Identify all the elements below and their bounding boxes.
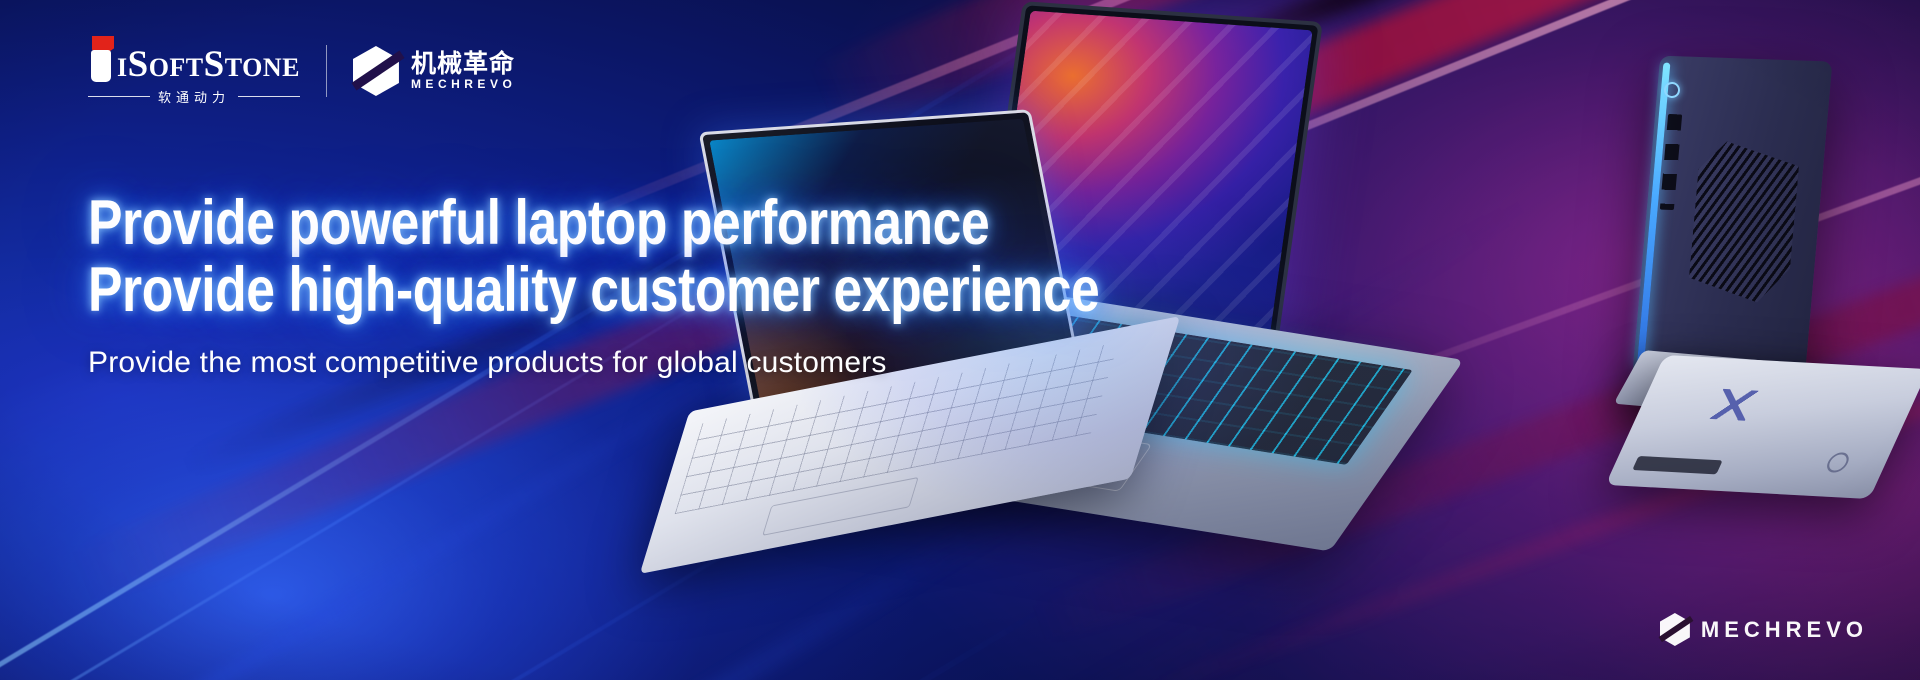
logo-divider [326, 45, 327, 97]
headline-line-2: Provide high-quality customer experience [88, 257, 1099, 324]
headline-block: Provide powerful laptop performance Prov… [88, 190, 1321, 380]
isoftstone-logo[interactable]: iSoftStone 软通动力 [88, 36, 300, 106]
logo-bar: iSoftStone 软通动力 机械革命 MECHREVO [88, 36, 516, 106]
isoftstone-chinese-name: 软通动力 [158, 87, 230, 106]
isoftstone-i-mark-icon [88, 36, 114, 82]
sub-headline: Provide the most competitive products fo… [88, 346, 1321, 380]
isoftstone-wordmark-row: iSoftStone [88, 36, 300, 82]
rule-left [88, 96, 150, 97]
mechrevo-hexagon-icon [353, 46, 399, 96]
white-stem-shape [91, 50, 111, 82]
mechrevo-chinese-name: 机械革命 [411, 51, 516, 77]
mechrevo-logo[interactable]: 机械革命 MECHREVO [353, 46, 516, 96]
headline-line-1: Provide powerful laptop performance [88, 190, 1099, 257]
isoftstone-wordmark: iSoftStone [117, 47, 300, 82]
mechrevo-watermark: MECHREVO [1660, 613, 1868, 646]
watermark-text: MECHREVO [1701, 617, 1868, 643]
watermark-hexagon-icon [1660, 613, 1690, 646]
mechrevo-wordmark: MECHREVO [411, 77, 516, 91]
rule-right [238, 96, 300, 97]
isoftstone-subtitle-row: 软通动力 [88, 87, 300, 106]
mechrevo-text-block: 机械革命 MECHREVO [411, 51, 516, 92]
marketing-banner: iSoftStone 软通动力 机械革命 MECHREVO Provide po… [0, 0, 1920, 680]
